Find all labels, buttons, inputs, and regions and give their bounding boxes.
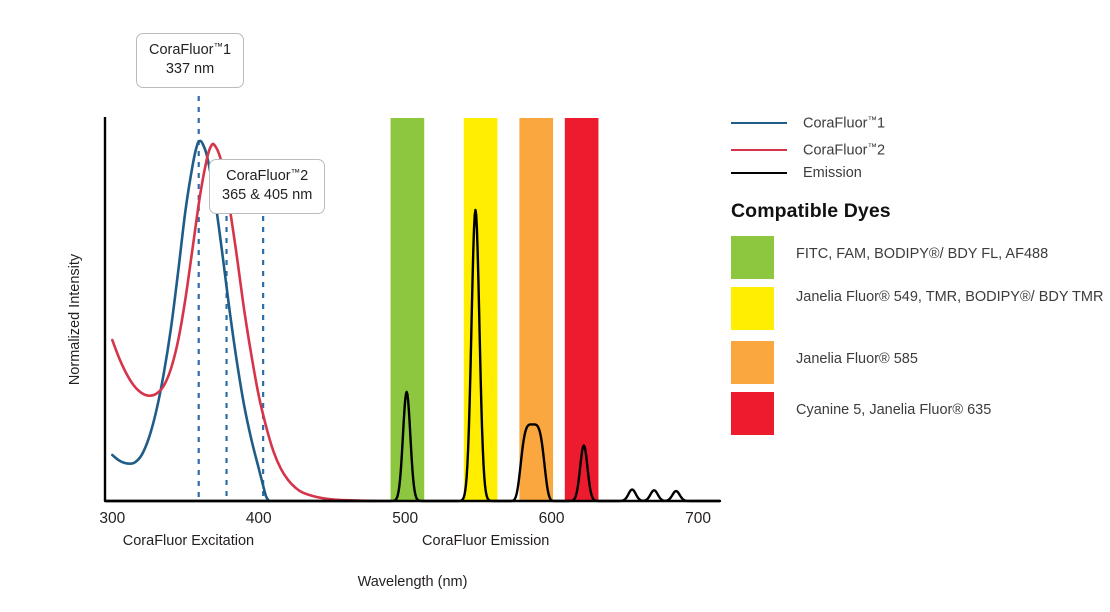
dye-item-orange: Janelia Fluor® 585: [731, 341, 918, 384]
x-axis-title: Wavelength (nm): [358, 574, 468, 590]
legend-label-corafluor1-index: 1: [877, 115, 885, 131]
dye-label-orange: Janelia Fluor® 585: [796, 341, 918, 369]
legend-item-emission: Emission: [731, 164, 862, 182]
legend-label-corafluor2: CoraFluor™2: [803, 142, 885, 158]
dye-swatch-orange: [731, 341, 774, 384]
y-axis-title: Normalized Intensity: [67, 253, 83, 385]
spectral-chart: 300400500600700CoraFluor ExcitationCoraF…: [0, 0, 740, 612]
x-tick-500: 500: [392, 510, 418, 527]
dye-item-yellow: Janelia Fluor® 549, TMR, BODIPY®/ BDY TM…: [731, 287, 1103, 330]
trademark-icon: ™: [867, 142, 877, 153]
legend-panel: CoraFluor™1 CoraFluor™2 Emission Compati…: [728, 0, 1110, 612]
x-tick-700: 700: [685, 510, 711, 527]
dye-swatch-green: [731, 236, 774, 279]
legend-line-swatch-corafluor1: [731, 122, 787, 124]
legend-item-corafluor2: CoraFluor™2: [731, 141, 885, 159]
callout-corafluor1-index: 1: [223, 42, 231, 58]
x-tick-400: 400: [246, 510, 272, 527]
emission-bands: [391, 118, 599, 501]
dye-swatch-red: [731, 392, 774, 435]
callout-corafluor1-brand: CoraFluor: [149, 42, 213, 58]
green-band: [391, 118, 425, 501]
dye-label-yellow-line2: BODIPY®/ BDY TMR: [965, 289, 1103, 305]
orange-band: [519, 118, 553, 501]
red-band: [565, 118, 599, 501]
callout-corafluor2-line2: 365 & 405 nm: [222, 186, 312, 205]
callout-corafluor1-line1: CoraFluor™1: [149, 41, 231, 60]
trademark-icon: ™: [213, 42, 223, 53]
callout-corafluor1: CoraFluor™1 337 nm: [136, 33, 244, 88]
region-label-excitation: CoraFluor Excitation: [123, 533, 254, 549]
legend-label-corafluor2-brand: CoraFluor: [803, 142, 867, 158]
trademark-icon: ™: [291, 168, 301, 179]
dye-swatch-yellow: [731, 287, 774, 330]
legend-label-corafluor1-brand: CoraFluor: [803, 115, 867, 131]
callout-corafluor2-brand: CoraFluor: [226, 168, 290, 184]
figure-root: 300400500600700CoraFluor ExcitationCoraF…: [0, 0, 1110, 612]
legend-line-swatch-emission: [731, 172, 787, 174]
callout-corafluor1-line2: 337 nm: [149, 60, 231, 79]
dye-label-yellow: Janelia Fluor® 549, TMR, BODIPY®/ BDY TM…: [796, 287, 1103, 307]
dye-label-orange-line1: Janelia Fluor® 585: [796, 351, 918, 367]
dye-label-yellow-line1: Janelia Fluor® 549, TMR,: [796, 289, 961, 305]
trademark-icon: ™: [867, 115, 877, 126]
x-tick-labels: 300400500600700: [99, 510, 711, 527]
chart-canvas: 300400500600700CoraFluor ExcitationCoraF…: [0, 0, 740, 612]
dye-label-green-line1: FITC, FAM, BODIPY®/ BDY FL, AF488: [796, 246, 1048, 262]
callout-corafluor2-index: 2: [300, 168, 308, 184]
dye-label-red-line1: Cyanine 5, Janelia Fluor® 635: [796, 402, 991, 418]
legend-label-emission-text: Emission: [803, 165, 862, 181]
x-tick-300: 300: [99, 510, 125, 527]
x-tick-600: 600: [539, 510, 565, 527]
dye-label-red: Cyanine 5, Janelia Fluor® 635: [796, 392, 991, 420]
dye-item-green: FITC, FAM, BODIPY®/ BDY FL, AF488: [731, 236, 1048, 279]
legend-label-corafluor1: CoraFluor™1: [803, 115, 885, 131]
legend-item-corafluor1: CoraFluor™1: [731, 114, 885, 132]
dye-item-red: Cyanine 5, Janelia Fluor® 635: [731, 392, 991, 435]
region-label-emission: CoraFluor Emission: [422, 533, 549, 549]
legend-line-swatch-corafluor2: [731, 149, 787, 151]
callout-corafluor2: CoraFluor™2 365 & 405 nm: [209, 159, 325, 214]
compatible-dyes-title: Compatible Dyes: [731, 200, 891, 223]
callout-corafluor2-line1: CoraFluor™2: [222, 167, 312, 186]
legend-label-corafluor2-index: 2: [877, 142, 885, 158]
dye-label-green: FITC, FAM, BODIPY®/ BDY FL, AF488: [796, 236, 1048, 264]
legend-label-emission: Emission: [803, 165, 862, 181]
region-labels: CoraFluor ExcitationCoraFluor Emission: [123, 533, 550, 549]
